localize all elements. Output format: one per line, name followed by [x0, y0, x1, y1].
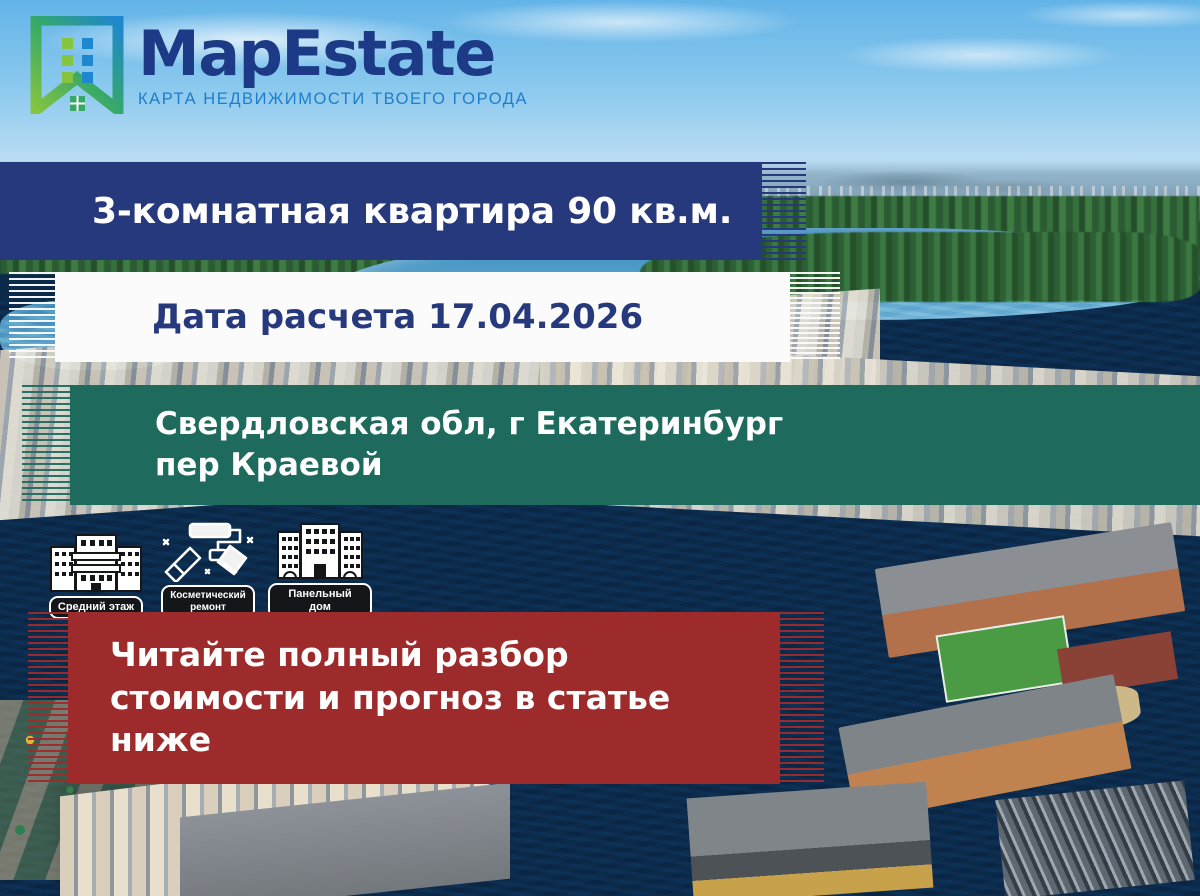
cta-line-2: стоимости и прогноз в статье [110, 677, 670, 720]
address-banner: Свердловская обл, г Екатеринбург пер Кра… [70, 385, 1200, 505]
page-title: 3-комнатная квартира 90 кв.м. [92, 191, 732, 232]
address-line-street: пер Краевой [155, 445, 383, 486]
property-promo-poster: MapEstate КАРТА НЕДВИЖИМОСТИ ТВОЕГО ГОРО… [0, 0, 1200, 896]
calculation-date-banner: Дата расчета 17.04.2026 [55, 272, 790, 362]
cta-line-3: ниже [110, 719, 211, 762]
cta-line-1: Читайте полный разбор [110, 634, 569, 677]
badge-floor-level[interactable]: Средний этаж [44, 531, 148, 619]
parking-lot [995, 780, 1194, 896]
paint-roller-brush-icon [160, 520, 256, 582]
panel-building-icon [272, 518, 368, 580]
cta-banner[interactable]: Читайте полный разбор стоимости и прогно… [68, 612, 780, 784]
bookmark-building-icon [30, 16, 124, 114]
brush-edge-left [0, 162, 6, 260]
brand-tagline: КАРТА НЕДВИЖИМОСТИ ТВОЕГО ГОРОДА [138, 91, 528, 108]
badge-building-type[interactable]: Панельный дом [268, 518, 372, 619]
property-title-banner: 3-комнатная квартира 90 кв.м. [0, 162, 762, 260]
address-line-region: Свердловская обл, г Екатеринбург [155, 404, 783, 445]
brand-logo[interactable]: MapEstate КАРТА НЕДВИЖИМОСТИ ТВОЕГО ГОРО… [30, 16, 528, 114]
shopping-center [687, 782, 934, 896]
badge-renovation[interactable]: Косметический ремонт [156, 520, 260, 619]
apartment-building-icon [48, 531, 144, 593]
property-feature-badges: Средний этаж [44, 518, 372, 619]
calculation-date-text: Дата расчета 17.04.2026 [152, 297, 643, 337]
brand-name: MapEstate [138, 23, 528, 85]
